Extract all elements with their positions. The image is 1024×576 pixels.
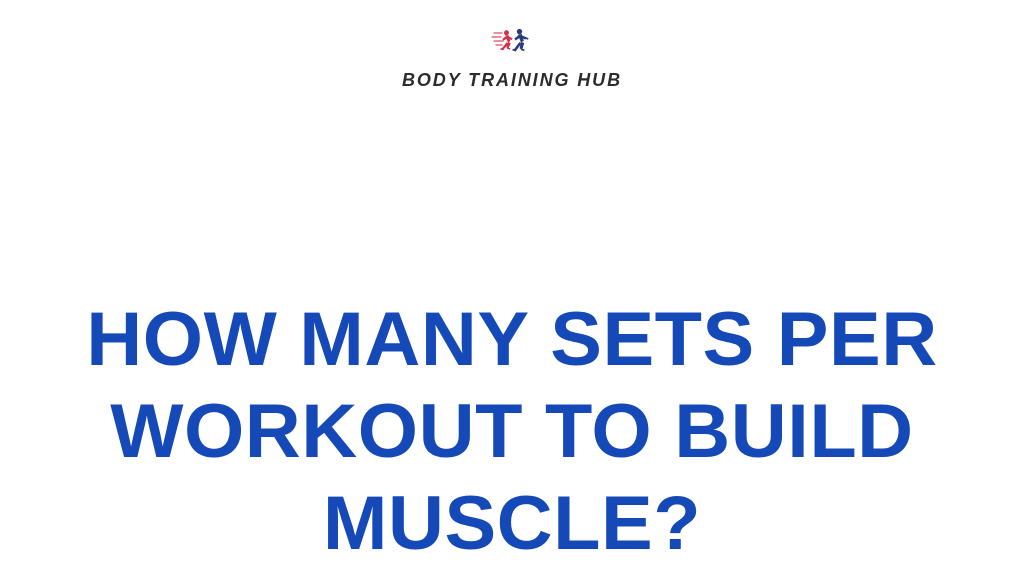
two-runners-icon (489, 26, 535, 62)
page-title: HOW MANY SETS PER WORKOUT TO BUILD MUSCL… (0, 294, 1024, 570)
page-title-line-1: HOW MANY SETS PER (0, 294, 1024, 386)
page-title-line-3: MUSCLE? (0, 478, 1024, 570)
title-slide: BODY TRAINING HUB HOW MANY SETS PER WORK… (0, 0, 1024, 576)
page-title-line-2: WORKOUT TO BUILD (0, 386, 1024, 478)
brand-name: BODY TRAINING HUB (402, 70, 622, 91)
brand-lockup: BODY TRAINING HUB (0, 26, 1024, 91)
